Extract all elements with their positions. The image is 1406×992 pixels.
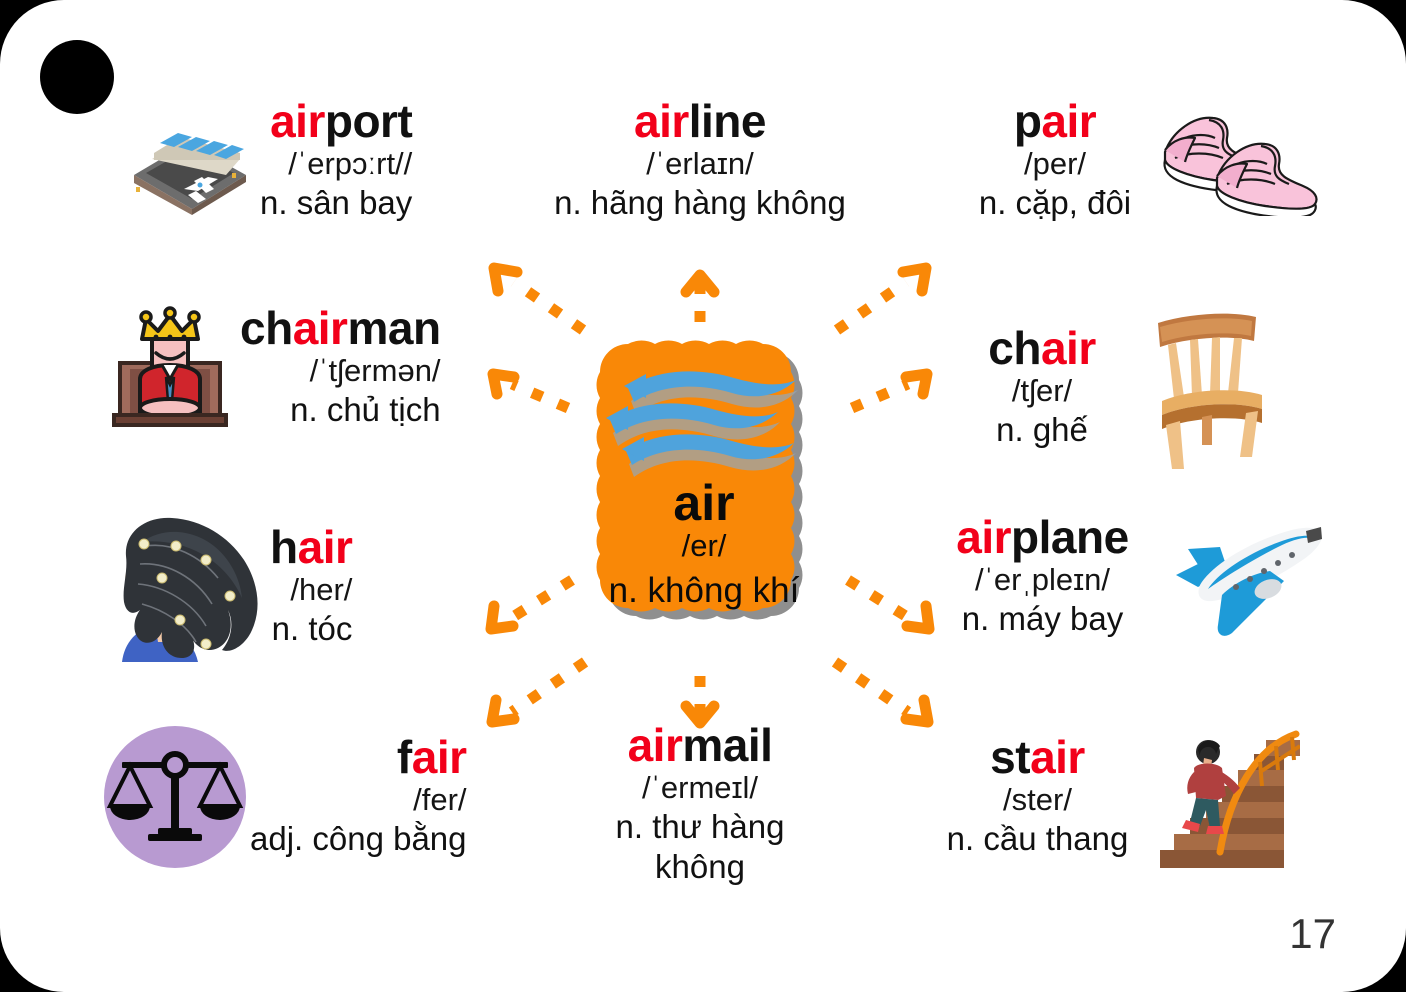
center-meaning: n. không khí — [566, 572, 842, 611]
chair-icon — [1132, 305, 1277, 470]
meaning-hair: n. tóc — [272, 609, 353, 649]
entry-hair: hair /her/ n. tóc — [100, 512, 352, 662]
long-hair-icon — [100, 512, 270, 662]
entry-chair: chair /tʃer/ n. ghế — [952, 305, 1277, 470]
center-node: air /er/ n. không khí — [566, 326, 856, 672]
entry-airplane: airplane /ˈerˌpleɪn/ n. máy bay — [930, 512, 1335, 642]
entry-airport: airport /ˈerpɔːrt// n. sân bay — [120, 98, 412, 223]
stairs-icon — [1160, 722, 1300, 872]
ipa-airline: /ˈerlaɪn/ — [646, 148, 754, 179]
ipa-airplane: /ˈerˌpleɪn/ — [975, 564, 1110, 595]
meaning-chairman: n. chủ tịch — [290, 390, 440, 430]
meaning-airplane: n. máy bay — [962, 599, 1123, 639]
ipa-fair: /fer/ — [413, 784, 466, 815]
entry-chairman: chairman /ˈtʃermən/ n. chủ tịch — [100, 305, 441, 430]
word-airmail: airmail — [628, 722, 773, 768]
chairman-icon — [100, 308, 240, 428]
meaning-pair: n. cặp, đôi — [979, 183, 1131, 223]
center-word: air — [566, 478, 842, 528]
entry-airmail: airmail /ˈermeɪl/ n. thư hàng không — [540, 722, 860, 888]
word-hair: hair — [270, 524, 352, 570]
entry-pair: pair /per/ n. cặp, đôi — [960, 98, 1320, 223]
airplane-icon — [1155, 512, 1335, 642]
word-airline: airline — [634, 98, 766, 144]
airport-icon — [120, 101, 260, 221]
meaning-airmail: n. thư hàng không — [585, 807, 815, 888]
meaning-fair: adj. công bằng — [250, 819, 467, 859]
center-ipa: /er/ — [566, 529, 842, 563]
ipa-airport: /ˈerpɔːrt// — [288, 148, 412, 179]
corner-dot-marker — [40, 40, 114, 114]
word-airplane: airplane — [956, 514, 1128, 560]
meaning-chair: n. ghế — [996, 410, 1088, 450]
word-chairman: chairman — [240, 305, 441, 351]
page-number: 17 — [1289, 910, 1336, 958]
meaning-stair: n. cầu thang — [947, 819, 1129, 859]
word-chair: chair — [988, 325, 1095, 371]
ipa-airmail: /ˈermeɪl/ — [642, 772, 758, 803]
balance-scale-icon — [100, 722, 250, 872]
meaning-airline: n. hãng hàng không — [554, 183, 846, 223]
word-airport: airport — [270, 98, 412, 144]
word-pair: pair — [1014, 98, 1096, 144]
ipa-chair: /tʃer/ — [1012, 375, 1072, 406]
entry-airline: airline /ˈerlaɪn/ n. hãng hàng không — [530, 98, 870, 223]
sneakers-icon — [1150, 101, 1320, 221]
entry-stair: stair /ster/ n. cầu thang — [915, 722, 1300, 872]
ipa-chairman: /ˈtʃermən/ — [310, 355, 441, 386]
worksheet-page: air /er/ n. không khí — [0, 0, 1406, 992]
word-stair: stair — [990, 734, 1085, 780]
word-fair: fair — [397, 734, 467, 780]
entry-fair: fair /fer/ adj. công bằng — [100, 722, 467, 872]
ipa-pair: /per/ — [1024, 148, 1086, 179]
meaning-airport: n. sân bay — [260, 183, 412, 223]
ipa-hair: /her/ — [290, 574, 352, 605]
ipa-stair: /ster/ — [1003, 784, 1072, 815]
